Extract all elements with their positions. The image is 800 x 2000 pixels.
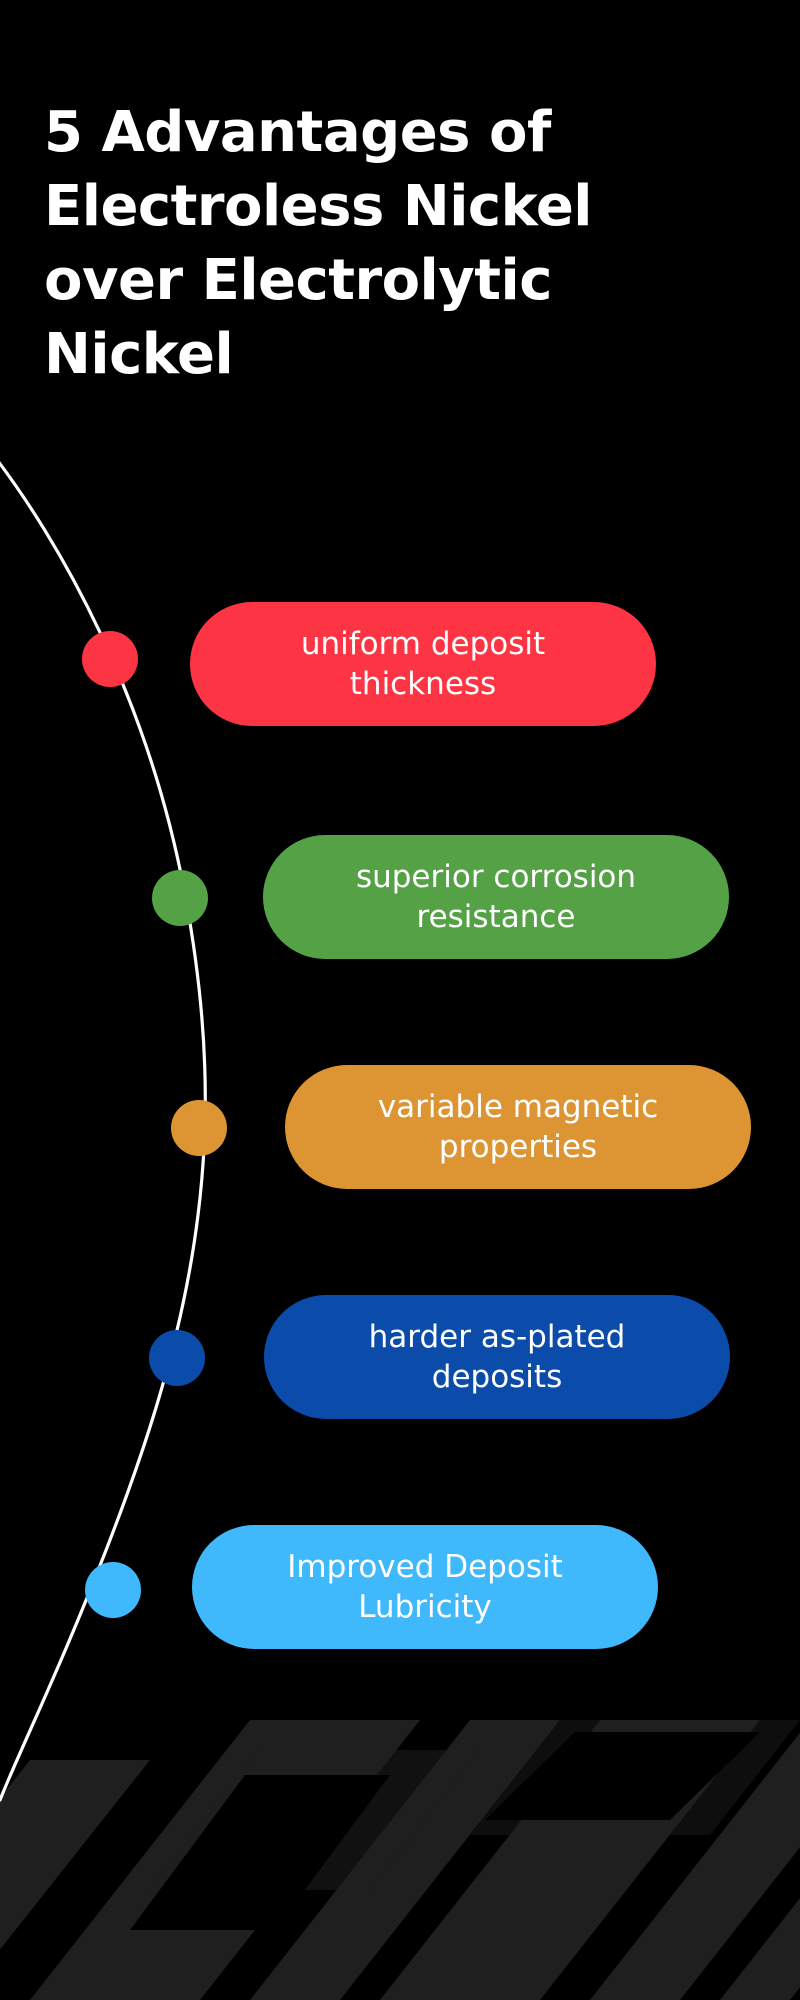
- advantage-pill-2[interactable]: superior corrosion resistance: [263, 835, 729, 959]
- advantage-pill-2-line-1: superior corrosion: [356, 857, 636, 897]
- timeline-dot-1: [82, 631, 138, 687]
- advantage-pill-1-line-2: thickness: [301, 664, 545, 704]
- page-title-line-2: Electroless Nickel: [44, 170, 644, 244]
- advantage-pill-4-line-2: deposits: [369, 1357, 626, 1397]
- advantage-pill-1[interactable]: uniform deposit thickness: [190, 602, 656, 726]
- timeline-dot-2: [152, 870, 208, 926]
- advantage-pill-5-line-2: Lubricity: [287, 1587, 563, 1627]
- advantage-pill-3-line-2: properties: [378, 1127, 658, 1167]
- advantage-pill-4-text: harder as-plated deposits: [369, 1317, 626, 1397]
- page-title-line-1: 5 Advantages of: [44, 96, 644, 170]
- advantage-pill-5-line-1: Improved Deposit: [287, 1547, 563, 1587]
- page-title-line-3: over Electrolytic: [44, 244, 644, 318]
- advantage-pill-4[interactable]: harder as-plated deposits: [264, 1295, 730, 1419]
- page-title: 5 Advantages of Electroless Nickel over …: [44, 96, 644, 392]
- advantage-pill-1-text: uniform deposit thickness: [301, 624, 545, 704]
- timeline-dot-3: [171, 1100, 227, 1156]
- advantage-pill-5[interactable]: Improved Deposit Lubricity: [192, 1525, 658, 1649]
- advantage-pill-1-line-1: uniform deposit: [301, 624, 545, 664]
- advantage-pill-2-line-2: resistance: [356, 897, 636, 937]
- diagonal-stripes-decoration: [0, 1640, 800, 2000]
- advantage-pill-3-text: variable magnetic properties: [378, 1087, 658, 1167]
- advantage-pill-3-line-1: variable magnetic: [378, 1087, 658, 1127]
- advantage-pill-4-line-1: harder as-plated: [369, 1317, 626, 1357]
- advantage-pill-5-text: Improved Deposit Lubricity: [287, 1547, 563, 1627]
- infographic-canvas: 5 Advantages of Electroless Nickel over …: [0, 0, 800, 2000]
- diagonal-stripes-svg: [0, 1640, 800, 2000]
- page-title-line-4: Nickel: [44, 318, 644, 392]
- advantage-pill-2-text: superior corrosion resistance: [356, 857, 636, 937]
- timeline-dot-5: [85, 1562, 141, 1618]
- timeline-dot-4: [149, 1330, 205, 1386]
- advantage-pill-3[interactable]: variable magnetic properties: [285, 1065, 751, 1189]
